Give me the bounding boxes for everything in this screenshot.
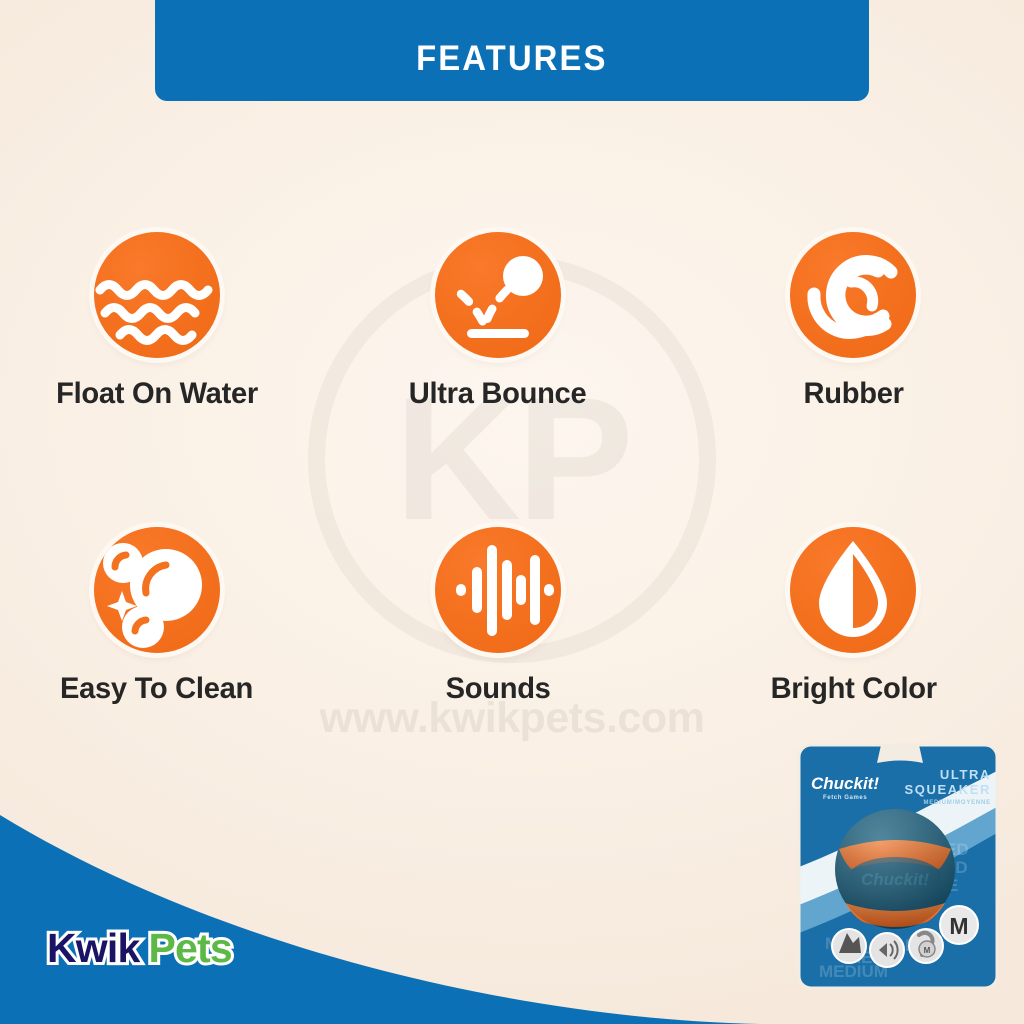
svg-text:M: M: [949, 913, 968, 939]
feature-label: Ultra Bounce: [409, 377, 587, 411]
feature-label: Float On Water: [56, 377, 258, 411]
features-row-1: Float On Water Ultra B: [0, 232, 1024, 411]
brand-logo[interactable]: KwikPets: [47, 925, 232, 972]
feature-item-float-on-water[interactable]: Float On Water: [0, 232, 327, 411]
infographic-canvas: FEATURES KP www.kwikpets.com Float On W: [0, 0, 1024, 1024]
page-title: FEATURES: [416, 39, 607, 79]
product-feature-badges: M: [832, 929, 943, 967]
bouncing-ball-icon: [435, 232, 561, 358]
feature-item-ultra-bounce[interactable]: Ultra Bounce: [327, 232, 668, 411]
brand-logo-kwik: Kwik: [47, 925, 140, 971]
svg-text:M: M: [924, 946, 931, 955]
features-header-banner: FEATURES: [155, 0, 869, 101]
product-name-line2: SQUEAKER: [905, 782, 991, 797]
features-grid: Float On Water Ultra B: [0, 232, 1024, 706]
product-brand-text: Chuckit!: [811, 774, 879, 793]
rubber-swirl-icon: [790, 232, 916, 358]
product-name-line1: ULTRA: [940, 767, 991, 782]
features-row-2: Easy To Clean: [0, 527, 1024, 706]
bubbles-icon: [94, 527, 220, 653]
brand-logo-pets: Pets: [149, 925, 232, 971]
feature-label: Sounds: [446, 672, 551, 706]
color-droplet-icon: [790, 527, 916, 653]
feature-label: Easy To Clean: [60, 672, 253, 706]
sound-wave-icon: [435, 527, 561, 653]
product-size-line: MEDIUM/MOYENNE: [923, 800, 991, 806]
feature-item-rubber[interactable]: Rubber: [683, 232, 1024, 411]
feature-item-sounds[interactable]: Sounds: [327, 527, 668, 706]
product-tagline-text: Fetch Games: [823, 795, 867, 801]
feature-label: Rubber: [803, 377, 903, 411]
feature-item-easy-to-clean[interactable]: Easy To Clean: [0, 527, 327, 706]
product-package-image[interactable]: ED FD E M MED MED MEDIUM Chuckit! Fetch …: [795, 737, 1005, 992]
feature-label: Bright Color: [770, 672, 936, 706]
product-size-badge: M: [940, 906, 978, 944]
waves-icon: [94, 232, 220, 358]
product-ball: Chuckit!: [835, 809, 955, 929]
feature-item-bright-color[interactable]: Bright Color: [683, 527, 1024, 706]
